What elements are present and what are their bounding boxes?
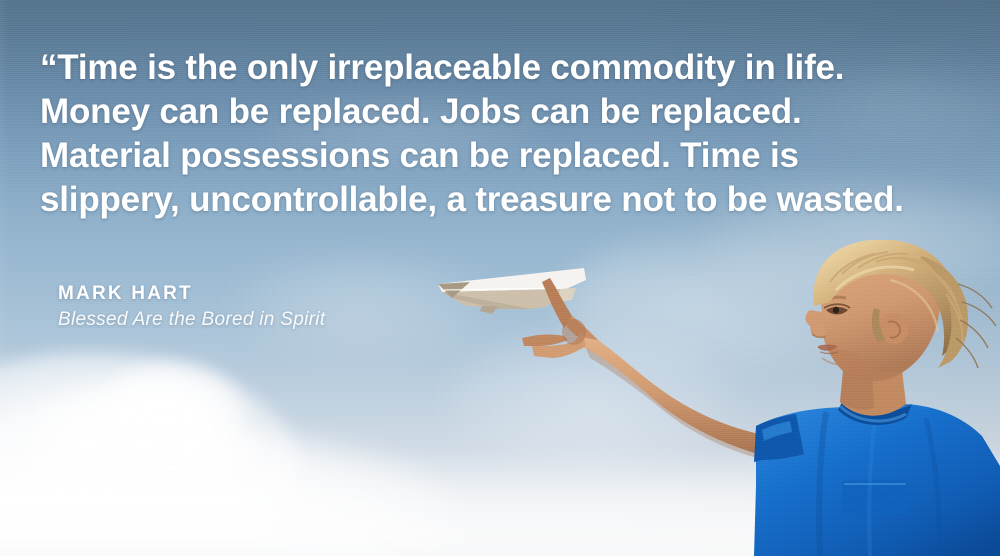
quote-line-3: Material possessions can be replaced. Ti… [40,134,970,178]
quote-card: “Time is the only irreplaceable commodit… [0,0,1000,556]
book-title: Blessed Are the Bored in Spirit [58,307,325,333]
quote-line-2: Money can be replaced. Jobs can be repla… [40,90,970,134]
boy-figure [470,240,1000,556]
quote-text: “Time is the only irreplaceable commodit… [40,46,970,222]
author-name: MARK HART [58,283,325,305]
quote-line-1: “Time is the only irreplaceable commodit… [40,46,970,90]
quote-line-4: slippery, uncontrollable, a treasure not… [40,178,970,222]
attribution: MARK HART Blessed Are the Bored in Spiri… [58,283,325,333]
